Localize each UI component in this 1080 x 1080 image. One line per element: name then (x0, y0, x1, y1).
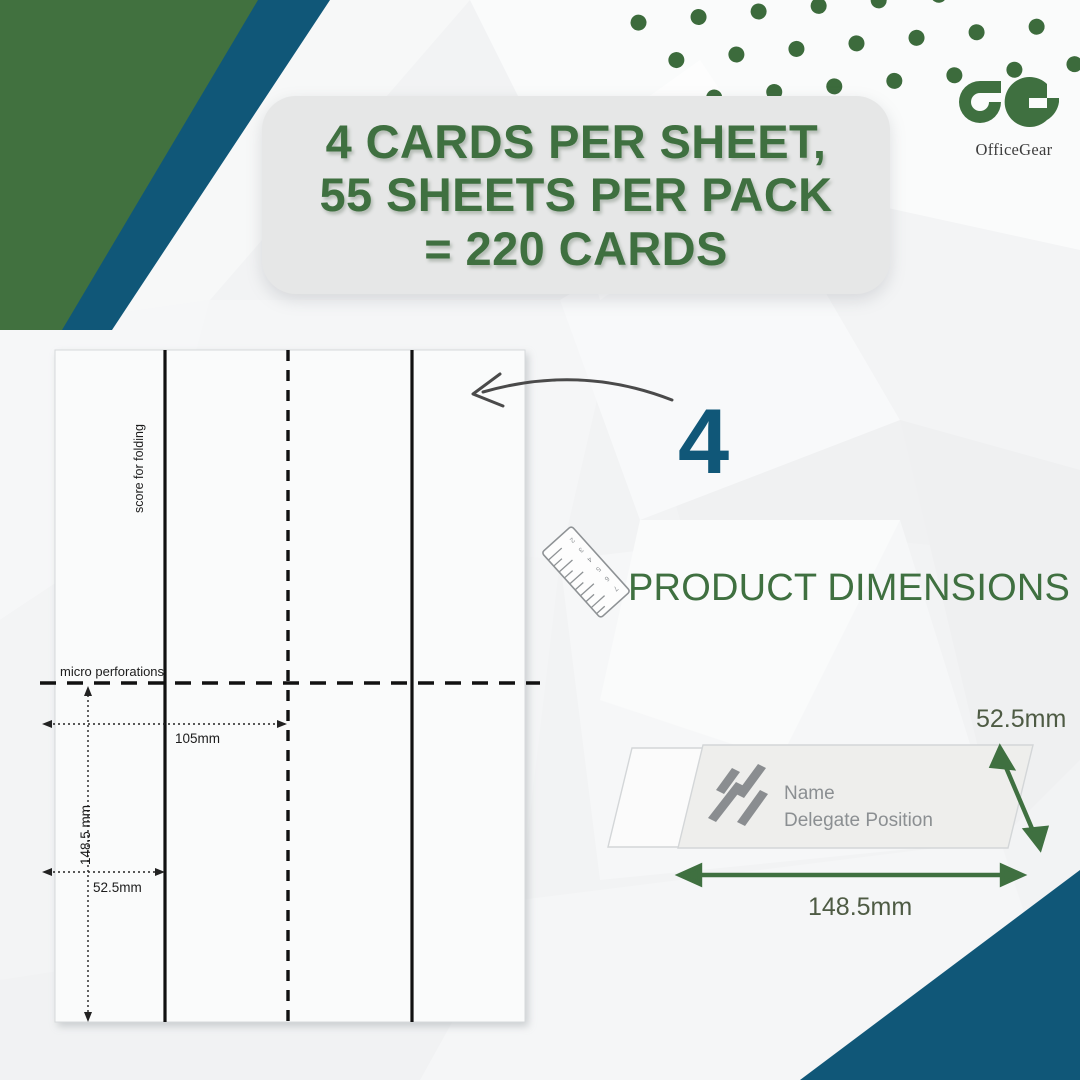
dimension-148-5mm-arrow (680, 866, 1022, 884)
card-name-line: Name (784, 783, 835, 805)
card-role-line: Delegate Position (784, 810, 933, 832)
tent-card-preview (0, 0, 1080, 1080)
card-width-label: 148.5mm (808, 893, 912, 922)
infographic-canvas: 4 CARDS PER SHEET, 55 SHEETS PER PACK = … (0, 0, 1080, 1080)
card-height-label: 52.5mm (976, 705, 1066, 734)
